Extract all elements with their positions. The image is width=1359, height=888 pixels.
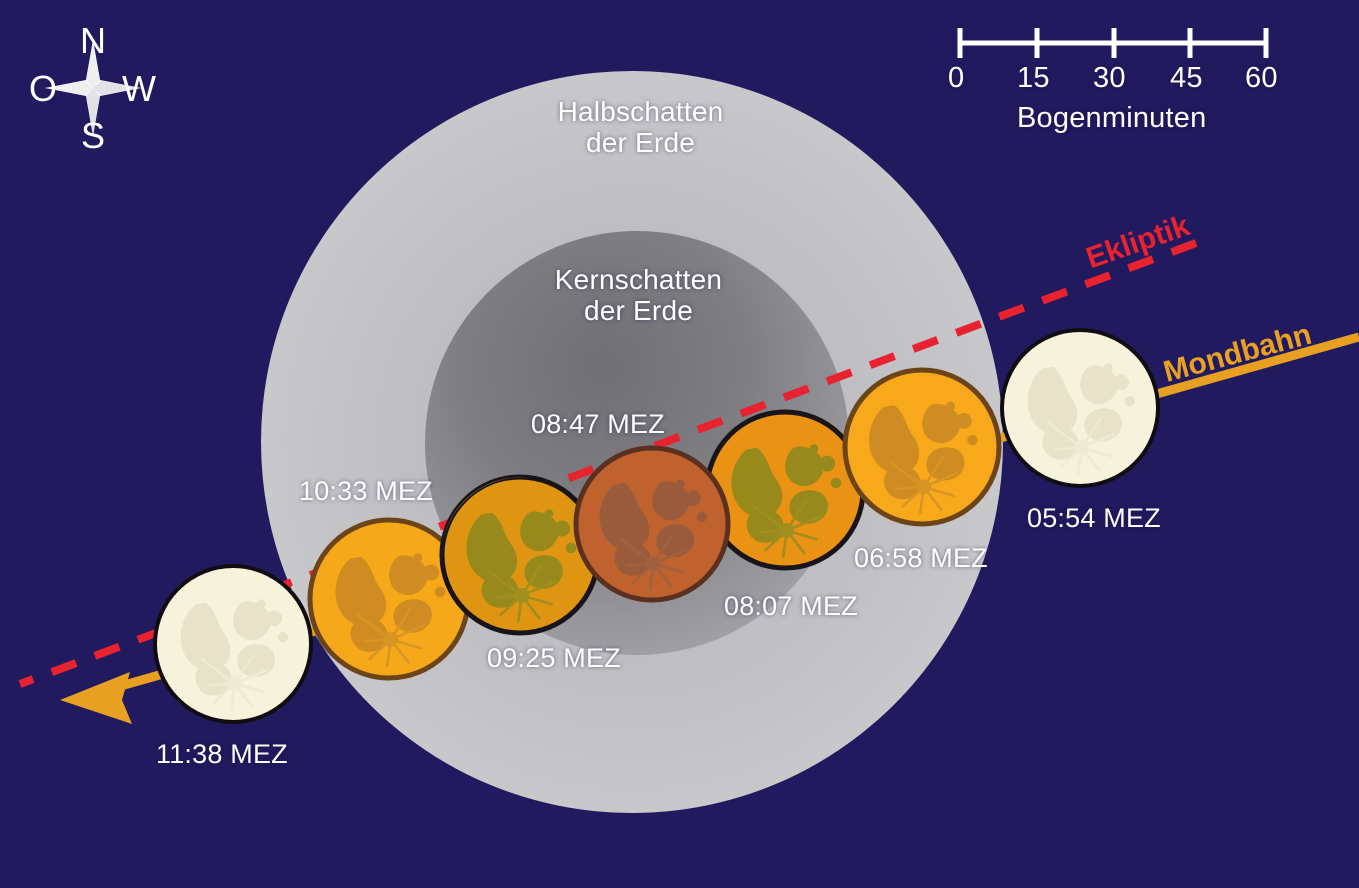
scale-tick-60: 60 <box>1245 62 1278 95</box>
time-label-0925: 09:25 MEZ <box>487 643 621 674</box>
umbra-label-line2: der Erde <box>541 295 736 326</box>
penumbra-label-line2: der Erde <box>543 127 738 158</box>
scale-tick-30: 30 <box>1093 62 1126 95</box>
compass-label-south: S <box>81 118 105 154</box>
moon-0925 <box>442 477 598 633</box>
time-label-0847: 08:47 MEZ <box>531 409 665 440</box>
scale-tick-15: 15 <box>1017 62 1050 95</box>
moon-0554 <box>1002 330 1158 486</box>
time-label-1033: 10:33 MEZ <box>299 476 433 507</box>
compass-label-east: O <box>29 71 57 107</box>
time-label-1138: 11:38 MEZ <box>156 739 288 770</box>
penumbra-label: Halbschatten der Erde <box>543 96 738 159</box>
moon-0658 <box>845 370 999 524</box>
penumbra-label-line1: Halbschatten <box>543 96 738 127</box>
umbra-label-line1: Kernschatten <box>541 264 736 295</box>
scale-bar <box>960 28 1266 58</box>
compass-label-north: N <box>80 23 106 59</box>
time-label-0554: 05:54 MEZ <box>1027 503 1161 534</box>
compass-label-west: W <box>122 71 156 107</box>
moon-0807 <box>707 412 863 568</box>
eclipse-diagram: N O W S 0 15 30 45 60 Bogenminuten Halbs… <box>0 0 1359 888</box>
moon-1138 <box>155 566 311 722</box>
time-label-0658: 06:58 MEZ <box>854 543 988 574</box>
time-label-0807: 08:07 MEZ <box>724 591 858 622</box>
scale-tick-45: 45 <box>1170 62 1203 95</box>
moon-0847 <box>576 448 728 600</box>
scale-unit-label: Bogenminuten <box>1017 102 1206 135</box>
scale-tick-0: 0 <box>948 62 964 95</box>
umbra-label: Kernschatten der Erde <box>541 264 736 327</box>
